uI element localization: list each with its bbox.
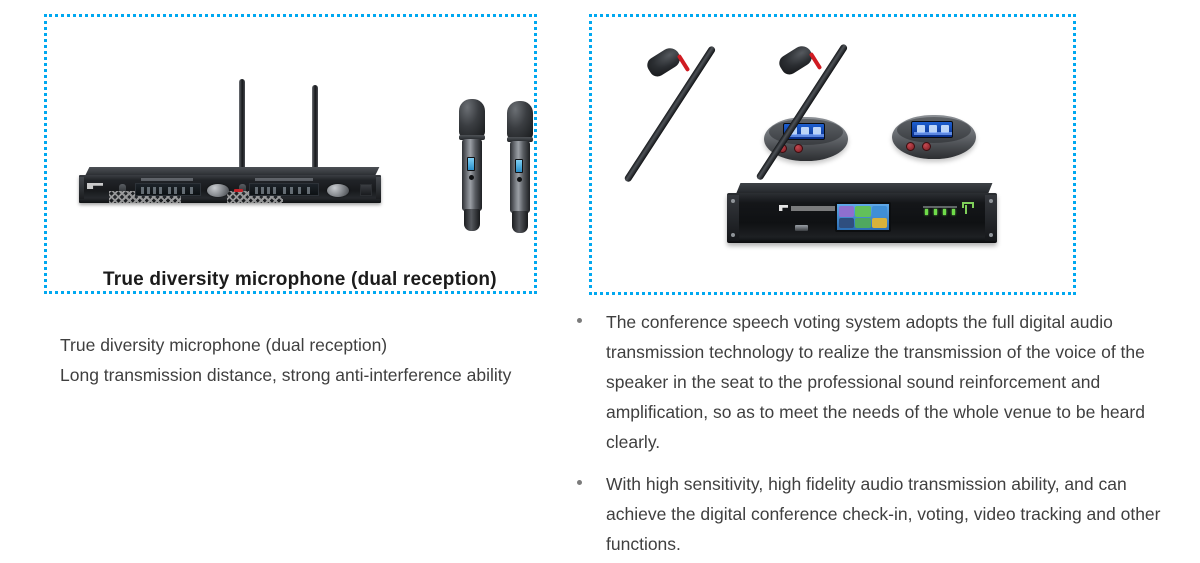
left-text-line: Long transmission distance, strong anti-…	[60, 360, 580, 390]
rack-mount-ear-left	[727, 195, 739, 241]
rack-mount-ear-left	[79, 177, 84, 199]
antenna-icon	[965, 205, 967, 214]
receiver-display-icon	[249, 183, 319, 196]
left-image-frame: True diversity microphone (dual receptio…	[44, 14, 537, 294]
right-image-frame	[589, 14, 1076, 295]
mic-talk-button-icon	[906, 142, 915, 151]
host-model-label	[791, 206, 835, 211]
microphone-tail	[464, 209, 480, 231]
bullet-text: The conference speech voting system adop…	[606, 312, 1145, 452]
touch-screen-icon	[835, 202, 891, 232]
bullet-dot-icon	[577, 480, 582, 485]
rack-mount-ear-right	[376, 177, 381, 199]
microphone-display-icon	[467, 157, 475, 171]
unit-display-icon	[911, 121, 953, 138]
vote-button-icon	[922, 142, 931, 151]
antenna-icon	[312, 85, 318, 175]
screen-app-icon	[855, 218, 870, 229]
true-diversity-microphone-photo: True diversity microphone (dual receptio…	[47, 17, 534, 291]
screen-app-icon	[872, 206, 887, 217]
microphone-capsule	[644, 45, 683, 80]
microphone-button-icon	[469, 175, 474, 180]
status-led-icon	[234, 189, 243, 192]
vote-button-icon	[794, 144, 803, 153]
receiver-display-icon	[135, 183, 201, 196]
microphone-display-icon	[515, 159, 523, 173]
antenna-icon	[239, 79, 245, 175]
status-led-icon	[923, 206, 963, 216]
microphone-capsule	[776, 43, 815, 78]
channel-label-strip	[255, 178, 313, 181]
microphone-grille	[507, 101, 533, 139]
host-controller-rack-icon	[727, 183, 997, 247]
screen-app-icon	[839, 218, 854, 229]
usb-port-icon	[795, 225, 808, 231]
screen-app-icon	[839, 206, 854, 217]
channel-label-strip	[141, 178, 193, 181]
right-description-block: The conference speech voting system adop…	[572, 307, 1172, 563]
conference-speech-voting-system-photo	[592, 17, 1073, 292]
left-text-line: True diversity microphone (dual receptio…	[60, 330, 580, 360]
conference-unit-base-icon	[892, 115, 976, 159]
volume-knob-icon	[207, 184, 229, 197]
volume-knob-icon	[327, 184, 349, 197]
left-description-block: True diversity microphone (dual receptio…	[60, 330, 580, 390]
microphone-button-icon	[517, 177, 522, 182]
microphone-grille	[459, 99, 485, 137]
bullet-list-item: The conference speech voting system adop…	[572, 307, 1172, 457]
microphone-tail	[512, 211, 528, 233]
rack-receiver-icon	[79, 167, 381, 205]
bullet-list-item: With high sensitivity, high fidelity aud…	[572, 469, 1172, 559]
bullet-dot-icon	[577, 318, 582, 323]
power-button-icon	[360, 184, 372, 196]
slide-canvas: True diversity microphone (dual receptio…	[0, 0, 1200, 563]
screen-app-icon	[872, 218, 887, 229]
image-caption: True diversity microphone (dual receptio…	[103, 269, 483, 291]
rack-mount-ear-right	[985, 195, 997, 241]
bullet-text: With high sensitivity, high fidelity aud…	[606, 474, 1161, 554]
screen-app-icon	[855, 206, 870, 217]
